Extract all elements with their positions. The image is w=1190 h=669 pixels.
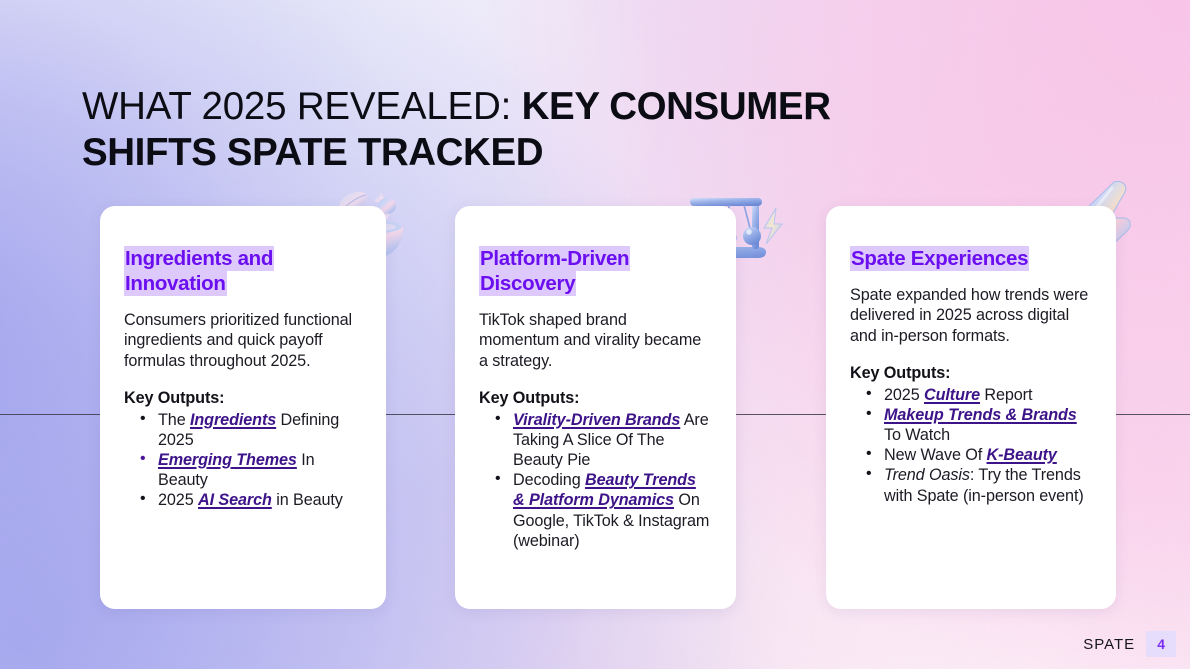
key-outputs-list: The Ingredients Defining 2025 Emerging T… [124, 410, 360, 511]
link-emerging-themes[interactable]: Emerging Themes [158, 451, 297, 469]
footer: SPATE 4 [1083, 631, 1176, 657]
list-item: New Wave Of K-Beauty [850, 445, 1090, 465]
card-heading: Ingredients and Innovation [124, 246, 274, 296]
card-body-text: TikTok shaped brand momentum and viralit… [479, 310, 710, 371]
bullet-pre-text: New Wave Of [884, 446, 987, 464]
bullet-pre-text: Decoding [513, 471, 585, 489]
bullet-post-text: in Beauty [272, 491, 343, 509]
brand-label: SPATE [1083, 636, 1146, 653]
list-item: Decoding Beauty Trends & Platform Dynami… [479, 470, 710, 551]
page-number-badge: 4 [1146, 631, 1176, 657]
list-item: Virality-Driven Brands Are Taking A Slic… [479, 410, 710, 471]
bullet-italic-text: Trend Oasis [884, 466, 970, 484]
card-heading-wrap: Platform-Driven Discovery [479, 246, 710, 296]
list-item: Trend Oasis: Try the Trends with Spate (… [850, 465, 1090, 505]
bullet-post-text: Report [980, 386, 1032, 404]
bullet-post-text: To Watch [884, 426, 950, 444]
link-ai-search[interactable]: AI Search [198, 491, 272, 509]
list-item: Emerging Themes In Beauty [124, 450, 360, 490]
card-heading: Platform-Driven Discovery [479, 246, 630, 296]
link-k-beauty[interactable]: K-Beauty [987, 446, 1057, 464]
list-item: 2025 AI Search in Beauty [124, 490, 360, 510]
link-culture[interactable]: Culture [924, 386, 980, 404]
list-item: 2025 Culture Report [850, 385, 1090, 405]
card-heading-wrap: Spate Experiences [850, 246, 1090, 271]
key-outputs-list: 2025 Culture Report Makeup Trends & Bran… [850, 385, 1090, 506]
list-item: Makeup Trends & Brands To Watch [850, 405, 1090, 445]
card-ingredients-and-innovation: Ingredients and Innovation Consumers pri… [100, 206, 386, 609]
key-outputs-list: Virality-Driven Brands Are Taking A Slic… [479, 410, 710, 551]
card-spate-experiences: Spate Experiences Spate expanded how tre… [826, 206, 1116, 609]
card-body-text: Spate expanded how trends were delivered… [850, 285, 1090, 346]
slide-canvas: WHAT 2025 REVEALED: KEY CONSUMER SHIFTS … [0, 0, 1190, 669]
bullet-pre-text: 2025 [158, 491, 198, 509]
card-heading: Spate Experiences [850, 246, 1029, 271]
link-virality-driven-brands[interactable]: Virality-Driven Brands [513, 411, 680, 429]
title-regular-part: WHAT 2025 REVEALED: [82, 85, 522, 128]
bullet-pre-text: The [158, 411, 190, 429]
card-heading-wrap: Ingredients and Innovation [124, 246, 360, 296]
link-ingredients[interactable]: Ingredients [190, 411, 276, 429]
card-body-text: Consumers prioritized functional ingredi… [124, 310, 360, 371]
card-platform-driven-discovery: Platform-Driven Discovery TikTok shaped … [455, 206, 736, 609]
key-outputs-label: Key Outputs: [124, 388, 360, 408]
page-title: WHAT 2025 REVEALED: KEY CONSUMER SHIFTS … [82, 84, 912, 176]
list-item: The Ingredients Defining 2025 [124, 410, 360, 450]
link-makeup-trends-brands[interactable]: Makeup Trends & Brands [884, 406, 1077, 424]
key-outputs-label: Key Outputs: [850, 363, 1090, 383]
bullet-pre-text: 2025 [884, 386, 924, 404]
key-outputs-label: Key Outputs: [479, 388, 710, 408]
